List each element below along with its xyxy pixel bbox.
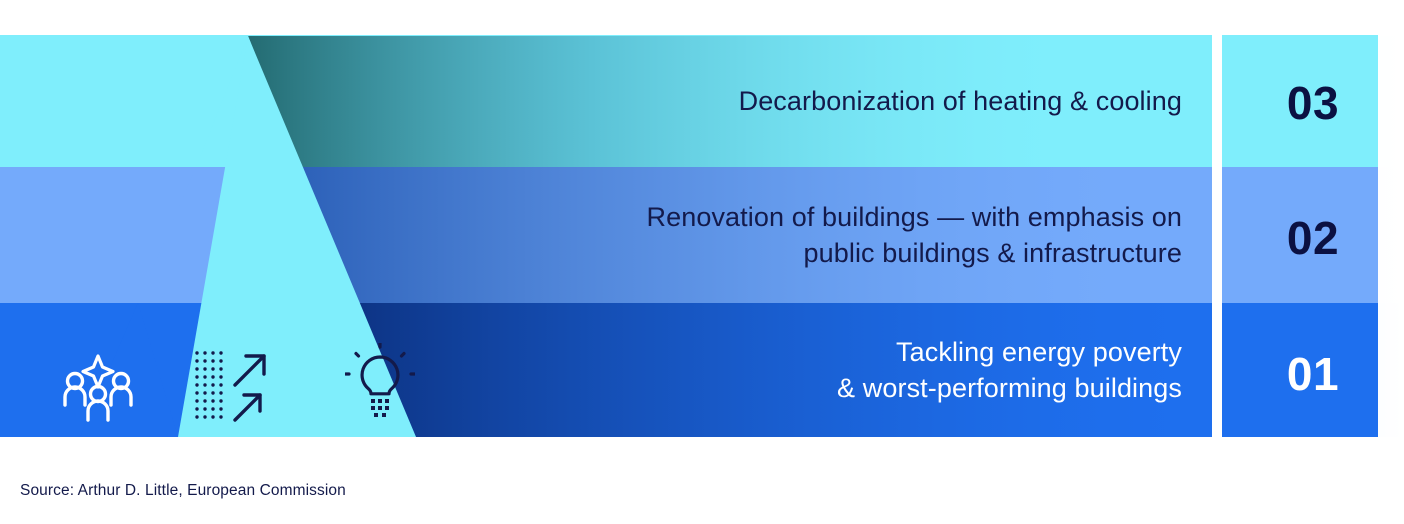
row-number-02: 02 xyxy=(1222,211,1404,265)
lightbulb-icon xyxy=(345,343,415,423)
growth-arrows-icon xyxy=(194,350,272,424)
row-label-03: Decarbonization of heating & cooling xyxy=(422,83,1182,119)
row-number-03: 03 xyxy=(1222,76,1404,130)
pyramid-infographic: Decarbonization of heating & cooling Ren… xyxy=(0,0,1404,524)
column-divider xyxy=(1212,35,1222,437)
row-number-01: 01 xyxy=(1222,347,1404,401)
source-caption: Source: Arthur D. Little, European Commi… xyxy=(20,482,346,500)
row-label-02: Renovation of buildings — with emphasis … xyxy=(422,199,1182,271)
row-label-01: Tackling energy poverty & worst-performi… xyxy=(422,334,1182,406)
people-sparkle-icon xyxy=(62,348,134,424)
